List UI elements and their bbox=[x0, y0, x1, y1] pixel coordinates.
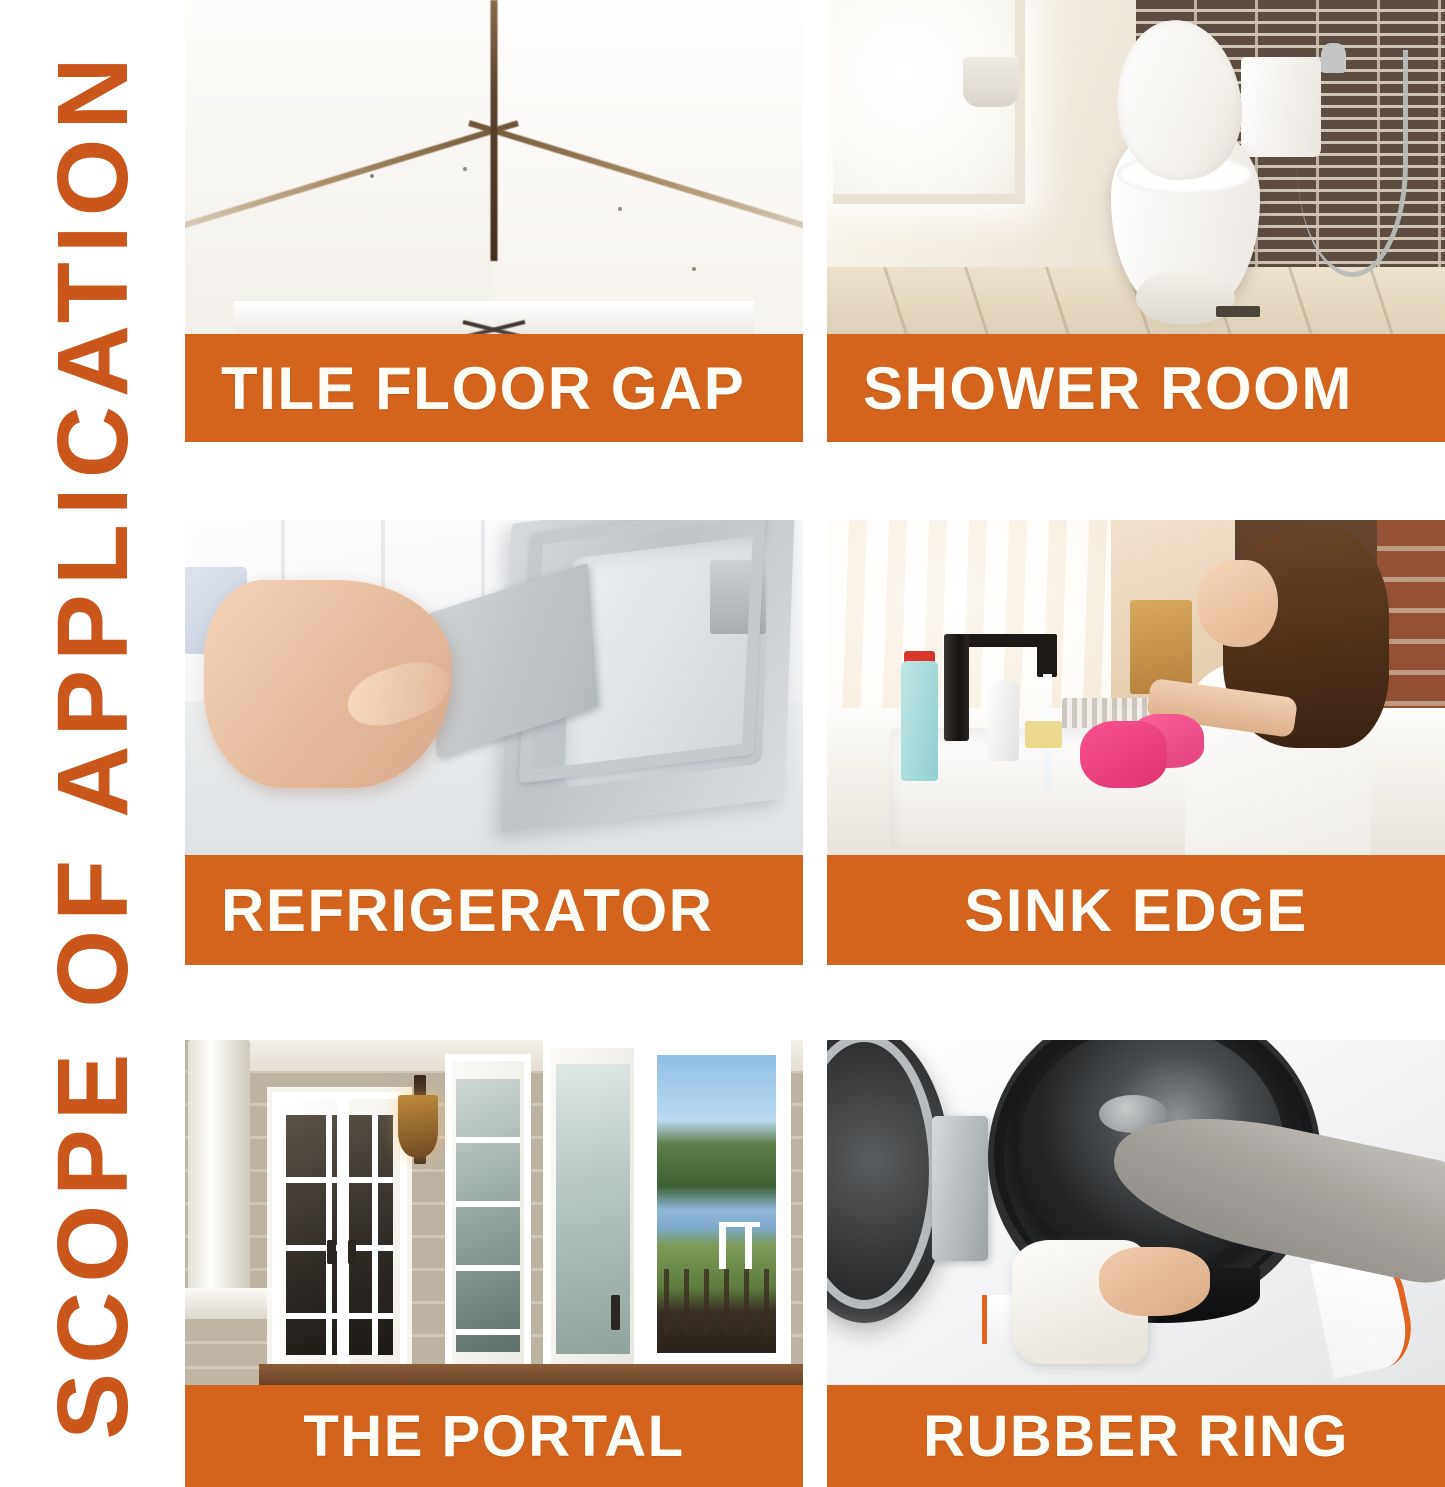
panel-label-shower-room: SHOWER ROOM bbox=[827, 334, 1445, 442]
photo-refrigerator bbox=[185, 520, 803, 855]
photo-tile-floor-gap bbox=[185, 0, 803, 334]
photo-the-portal bbox=[185, 1040, 803, 1385]
panel-label-sink-edge: SINK EDGE bbox=[827, 855, 1445, 965]
panel-tile-floor-gap[interactable]: TILE FLOOR GAP bbox=[185, 0, 803, 442]
french-door-third[interactable] bbox=[543, 1040, 642, 1378]
pergola bbox=[719, 1222, 760, 1270]
floor-drain bbox=[1216, 306, 1259, 318]
panel-label-rubber-ring: RUBBER RING bbox=[827, 1385, 1445, 1487]
hand bbox=[1099, 1247, 1210, 1316]
spray-bottle bbox=[901, 661, 938, 782]
faucet-spout-tip bbox=[1037, 634, 1057, 678]
panel-the-portal[interactable]: THE PORTAL bbox=[185, 965, 803, 1487]
porch-floor bbox=[259, 1364, 803, 1385]
door-glass-panes bbox=[456, 1079, 520, 1352]
reflected-landscape bbox=[657, 1055, 777, 1353]
tile-wall-left bbox=[185, 0, 494, 334]
lantern-icon bbox=[398, 1095, 438, 1157]
panel-shower-room[interactable]: SHOWER ROOM bbox=[827, 0, 1445, 442]
photo-rubber-ring bbox=[827, 1040, 1445, 1385]
pink-glove-left bbox=[1080, 721, 1167, 788]
photo-shower-room bbox=[827, 0, 1445, 334]
photo-sink-edge bbox=[827, 520, 1445, 855]
panel-label-refrigerator: REFRIGERATOR bbox=[185, 855, 803, 965]
panel-rubber-ring[interactable]: RUBBER RING bbox=[827, 965, 1445, 1487]
shower-hose bbox=[1297, 50, 1408, 277]
faucet-body bbox=[944, 634, 969, 741]
grout-line-vertical bbox=[491, 0, 498, 261]
deck-railing bbox=[664, 1269, 772, 1334]
door-mullion bbox=[337, 1092, 349, 1378]
toilet-paper-holder bbox=[963, 57, 1019, 107]
application-scope-grid: TILE FLOOR GAP SHOWER ROOM bbox=[185, 0, 1445, 1487]
door-handle-right-set[interactable] bbox=[611, 1295, 620, 1330]
door-handle-left[interactable] bbox=[327, 1240, 336, 1264]
panel-label-the-portal: THE PORTAL bbox=[185, 1385, 803, 1487]
headline-rail: SCOPE OF APPLICATION bbox=[0, 0, 185, 1487]
porch-column bbox=[188, 1040, 250, 1316]
panel-refrigerator[interactable]: REFRIGERATOR bbox=[185, 442, 803, 965]
door-handle-right[interactable] bbox=[348, 1240, 357, 1264]
french-door-middle[interactable] bbox=[445, 1054, 532, 1378]
column-base bbox=[185, 1288, 272, 1319]
sponge bbox=[1025, 721, 1062, 748]
french-door-right[interactable] bbox=[642, 1040, 790, 1375]
girl-face bbox=[1198, 560, 1278, 647]
mould-speck bbox=[618, 207, 622, 211]
mould-speck bbox=[692, 267, 696, 271]
washer-door-hinge bbox=[932, 1116, 988, 1261]
tile-wall-right bbox=[494, 0, 803, 334]
soap-dispenser bbox=[988, 681, 1019, 761]
panel-label-tile-floor-gap: TILE FLOOR GAP bbox=[185, 334, 803, 442]
panel-sink-edge[interactable]: SINK EDGE bbox=[827, 442, 1445, 965]
page-title: SCOPE OF APPLICATION bbox=[43, 48, 143, 1439]
